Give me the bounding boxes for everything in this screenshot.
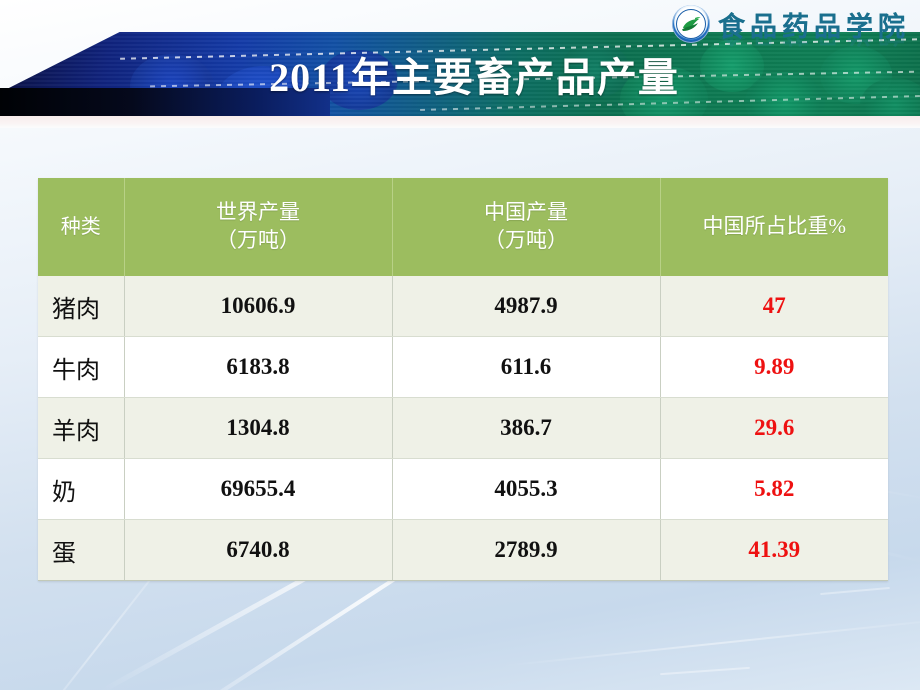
column-header-china-share: 中国所占比重% [660, 178, 888, 276]
cell-china-output: 4987.9 [392, 276, 660, 337]
column-header-kind-line1: 种类 [39, 214, 123, 240]
table-row: 奶 69655.4 4055.3 5.82 [38, 459, 888, 520]
production-table: 种类 世界产量 （万吨） 中国产量 （万吨） 中国所占比重% [38, 178, 888, 581]
column-header-china-line2: （万吨） [394, 227, 659, 255]
leaf-glyph-icon [680, 16, 702, 32]
table-row: 猪肉 10606.9 4987.9 47 [38, 276, 888, 337]
circular-leaf-emblem-icon [672, 5, 710, 43]
cell-world-output: 69655.4 [124, 459, 392, 520]
table-row: 蛋 6740.8 2789.9 41.39 [38, 520, 888, 581]
cell-china-share: 5.82 [660, 459, 888, 520]
cell-china-output: 611.6 [392, 337, 660, 398]
table-body: 猪肉 10606.9 4987.9 47 牛肉 6183.8 611.6 9.8… [38, 276, 888, 581]
page-title-text: 2011年主要畜产品产量 [269, 45, 679, 103]
institution-logo: 食品药品学院 [672, 2, 910, 46]
cell-kind: 羊肉 [38, 398, 124, 459]
column-header-world-line1: 世界产量 [126, 199, 391, 227]
cell-china-share: 47 [660, 276, 888, 337]
cell-kind: 牛肉 [38, 337, 124, 398]
cell-china-share: 9.89 [660, 337, 888, 398]
table-row: 牛肉 6183.8 611.6 9.89 [38, 337, 888, 398]
column-header-china-line1: 中国产量 [394, 199, 659, 227]
cell-world-output: 6183.8 [124, 337, 392, 398]
cell-china-share: 41.39 [660, 520, 888, 581]
production-table-container: 种类 世界产量 （万吨） 中国产量 （万吨） 中国所占比重% [38, 178, 888, 581]
cell-kind: 猪肉 [38, 276, 124, 337]
column-header-share-line1: 中国所占比重% [662, 213, 888, 241]
table-header-row: 种类 世界产量 （万吨） 中国产量 （万吨） 中国所占比重% [38, 178, 888, 276]
cell-world-output: 6740.8 [124, 520, 392, 581]
column-header-world-line2: （万吨） [126, 227, 391, 255]
cell-world-output: 1304.8 [124, 398, 392, 459]
cell-kind: 奶 [38, 459, 124, 520]
slide-canvas: 2011年主要畜产品产量 食品药品学院 食品药品学院 种类 [0, 0, 920, 690]
column-header-world-output: 世界产量 （万吨） [124, 178, 392, 276]
banner-underline-band [0, 116, 920, 128]
cell-kind: 蛋 [38, 520, 124, 581]
table-row: 羊肉 1304.8 386.7 29.6 [38, 398, 888, 459]
cell-china-output: 386.7 [392, 398, 660, 459]
cell-china-output: 2789.9 [392, 520, 660, 581]
cell-china-output: 4055.3 [392, 459, 660, 520]
institution-name: 食品药品学院 [718, 5, 910, 44]
cell-world-output: 10606.9 [124, 276, 392, 337]
column-header-china-output: 中国产量 （万吨） [392, 178, 660, 276]
cell-china-share: 29.6 [660, 398, 888, 459]
column-header-kind: 种类 [38, 178, 124, 276]
